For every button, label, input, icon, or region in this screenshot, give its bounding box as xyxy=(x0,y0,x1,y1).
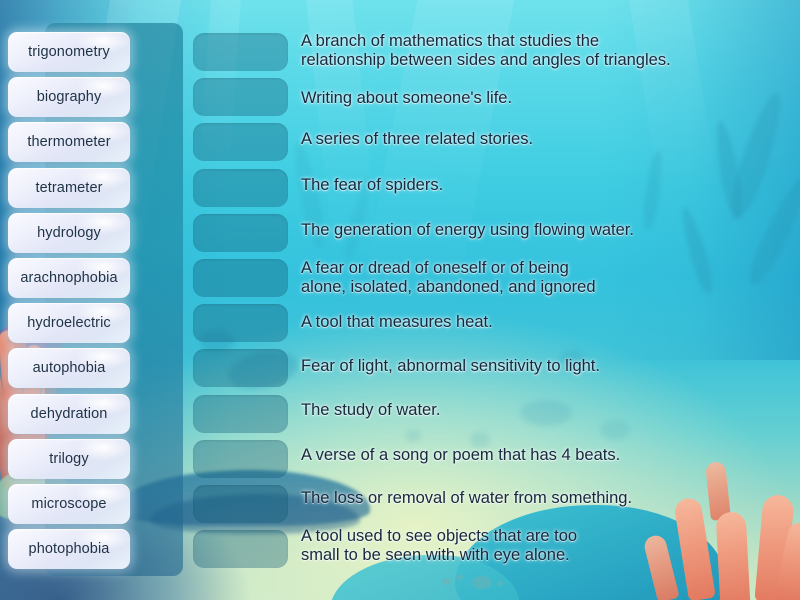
word-tile-label: arachnophobia xyxy=(20,270,117,286)
definition-1: A branch of mathematics that studies the… xyxy=(301,32,771,70)
word-tile-photophobia[interactable]: photophobia xyxy=(8,529,130,569)
word-tile-label: hydrology xyxy=(37,225,101,241)
sea-creature-silhouette xyxy=(600,420,630,440)
word-tile-autophobia[interactable]: autophobia xyxy=(8,348,130,388)
drop-zone-2[interactable] xyxy=(193,78,288,116)
word-tile-label: microscope xyxy=(31,496,106,512)
definition-3: A series of three related stories. xyxy=(301,130,771,149)
word-tile-label: dehydration xyxy=(31,406,108,422)
word-tile-label: photophobia xyxy=(29,541,110,557)
drop-zone-10[interactable] xyxy=(193,440,288,478)
definition-10: A verse of a song or poem that has 4 bea… xyxy=(301,446,771,465)
sea-creature-silhouette xyxy=(405,430,421,442)
word-tile-thermometer[interactable]: thermometer xyxy=(8,122,130,162)
activity-stage: trigonometrybiographythermometertetramet… xyxy=(0,0,800,600)
drop-zone-4[interactable] xyxy=(193,169,288,207)
word-tile-microscope[interactable]: microscope xyxy=(8,484,130,524)
drop-zone-9[interactable] xyxy=(193,395,288,433)
drop-zone-11[interactable] xyxy=(193,485,288,523)
bubble-icon xyxy=(442,578,451,585)
word-tile-label: autophobia xyxy=(33,360,106,376)
word-tile-dehydration[interactable]: dehydration xyxy=(8,394,130,434)
definition-2: Writing about someone's life. xyxy=(301,89,771,108)
word-tile-hydrology[interactable]: hydrology xyxy=(8,213,130,253)
word-tile-tetrameter[interactable]: tetrameter xyxy=(8,168,130,208)
bubble-icon xyxy=(497,581,503,586)
definition-7: A tool that measures heat. xyxy=(301,313,771,332)
definition-8: Fear of light, abnormal sensitivity to l… xyxy=(301,357,771,376)
drop-zone-5[interactable] xyxy=(193,214,288,252)
word-tile-label: biography xyxy=(37,89,102,105)
word-tile-label: thermometer xyxy=(27,134,110,150)
definition-12: A tool used to see objects that are too … xyxy=(301,527,771,565)
drop-zone-6[interactable] xyxy=(193,259,288,297)
drop-zone-8[interactable] xyxy=(193,349,288,387)
definition-11: The loss or removal of water from someth… xyxy=(301,489,771,508)
definition-5: The generation of energy using flowing w… xyxy=(301,221,771,240)
definition-9: The study of water. xyxy=(301,401,771,420)
definition-6: A fear or dread of oneself or of being a… xyxy=(301,259,771,297)
word-tile-label: trilogy xyxy=(49,451,88,467)
bubble-icon xyxy=(472,576,492,589)
word-tile-trigonometry[interactable]: trigonometry xyxy=(8,32,130,72)
definition-4: The fear of spiders. xyxy=(301,176,771,195)
drop-zone-7[interactable] xyxy=(193,304,288,342)
drop-zone-1[interactable] xyxy=(193,33,288,71)
drop-zone-12[interactable] xyxy=(193,530,288,568)
bubble-icon xyxy=(456,574,463,580)
word-tile-trilogy[interactable]: trilogy xyxy=(8,439,130,479)
word-tile-arachnophobia[interactable]: arachnophobia xyxy=(8,258,130,298)
drop-zone-3[interactable] xyxy=(193,123,288,161)
word-tile-hydroelectric[interactable]: hydroelectric xyxy=(8,303,130,343)
word-tile-biography[interactable]: biography xyxy=(8,77,130,117)
word-tile-label: hydroelectric xyxy=(27,315,111,331)
word-tile-label: trigonometry xyxy=(28,44,110,60)
word-tile-label: tetrameter xyxy=(35,180,102,196)
